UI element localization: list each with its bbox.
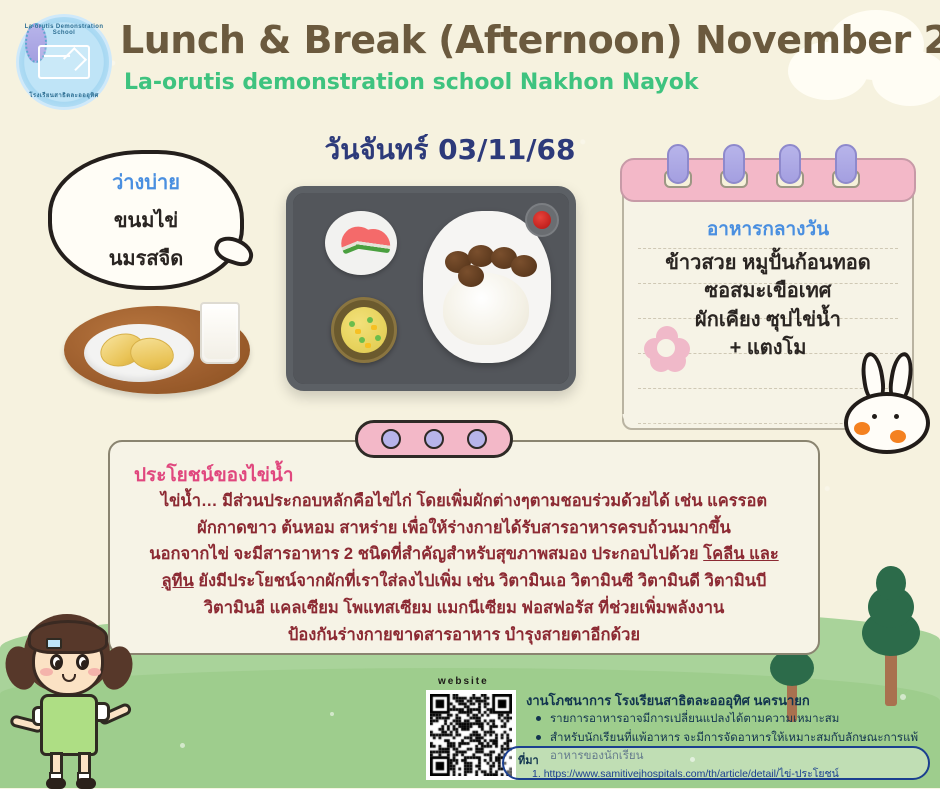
steamed-rice (443, 273, 529, 345)
benefits-line-with-highlight: ลูทีน ยังมีประโยชน์จากผักที่เราใส่ลงไปเพ… (124, 568, 804, 595)
footer-bar: website งานโภชนาการ โรงเรียนสาธิตละอออุท… (418, 676, 934, 784)
benefits-body: ไข่น้ำ… มีส่วนประกอบหลักคือไข่ไก่ โดยเพิ… (124, 488, 804, 648)
tab-dot-icon (381, 429, 401, 449)
snack-item-1: ขนมไข่ (114, 204, 178, 236)
bubble-tail (211, 232, 257, 269)
tab-dot-icon (424, 429, 444, 449)
school-building-icon (38, 45, 90, 79)
source-url-link[interactable]: https://www.samitivejhospitals.com/th/ar… (544, 768, 839, 780)
benefits-highlight-lutein: ลูทีน (162, 572, 194, 590)
school-logo: La-orutis Demonstration School โรงเรียนส… (16, 14, 112, 110)
footer-org-name: งานโภชนาการ โรงเรียนสาธิตละอออุทิศ นครนา… (526, 690, 810, 711)
milk-glass-icon (200, 302, 240, 364)
snack-heading: ว่างบ่าย (112, 166, 180, 198)
uniform-badge-icon (46, 638, 62, 649)
soup-bowl (331, 297, 397, 363)
benefits-highlight-choline: โคลีน และ (703, 545, 778, 563)
logo-text-top: La-orutis Demonstration School (19, 24, 109, 36)
page-subtitle: La-orutis demonstration school Nakhon Na… (124, 70, 698, 95)
bunny-icon (838, 352, 934, 460)
notepad-binder-rings (622, 144, 914, 204)
benefits-line: นอกจากไข่ จะมีสารอาหาร 2 ชนิดที่สำคัญสำห… (149, 545, 698, 563)
benefits-line: ป้องกันร่างกายขาดสารอาหาร บำรุงสายตาอีกด… (124, 622, 804, 649)
lunch-menu-content: อาหารกลางวัน ข้าวสวย หมูปั้นก้อนทอด ซอสม… (634, 214, 902, 363)
website-label: website (438, 676, 489, 687)
poster-canvas: La-orutis Demonstration School โรงเรียนส… (0, 0, 940, 788)
cartoon-schoolgirl-icon (6, 612, 138, 788)
snack-item-2: นมรสจืด (109, 242, 184, 274)
benefits-tab-decor (355, 420, 513, 458)
afternoon-snack-bubble: ว่างบ่าย ขนมไข่ นมรสจืด (48, 150, 244, 290)
milk-fill (204, 309, 236, 359)
tab-dot-icon (467, 429, 487, 449)
benefits-panel: ประโยชน์ของไข่น้ำ ไข่น้ำ… มีส่วนประกอบหล… (108, 440, 820, 655)
lunch-menu-item: ผักเคียง ซุปไข่น้ำ (634, 306, 902, 334)
lunch-tray-photo (286, 186, 576, 391)
benefits-title: ประโยชน์ของไข่น้ำ (134, 460, 294, 490)
source-url-row: 1. https://www.samitivejhospitals.com/th… (532, 765, 839, 782)
benefits-line: ไข่น้ำ… มีส่วนประกอบหลักคือไข่ไก่ โดยเพิ… (124, 488, 804, 515)
benefits-line: วิตามินอี แคลเซียม โพแทสเซียม แมกนีเซียม… (124, 595, 804, 622)
source-box: ที่มา 1. https://www.samitivejhospitals.… (502, 746, 930, 780)
lunch-menu-item: ข้าวสวย หมูปั้นก้อนทอด (634, 249, 902, 277)
ketchup-cup (525, 203, 559, 237)
lunch-menu-title: อาหารกลางวัน (634, 214, 902, 244)
date-label: วันจันทร์ 03/11/68 (300, 128, 600, 172)
source-number: 1. (532, 768, 541, 780)
benefits-line: ผักกาดขาว ต้นหอม สาหร่าย เพื่อให้ร่างกาย… (124, 515, 804, 542)
grass-speck (330, 712, 334, 716)
pork-ball-icon (458, 265, 484, 287)
lunch-menu-item: ซอสมะเขือเทศ (634, 277, 902, 305)
page-title: Lunch & Break (Afternoon) November 2025 (120, 18, 940, 62)
benefits-line: ยังมีประโยชน์จากผักที่เราใส่ลงไปเพิ่ม เช… (198, 572, 766, 590)
egg-soup (341, 307, 387, 353)
grass-speck (180, 743, 185, 748)
page-header: La-orutis Demonstration School โรงเรียนส… (0, 0, 940, 118)
footer-note: รายการอาหารอาจมีการเปลี่ยนแปลงได้ตามความ… (534, 710, 934, 729)
benefits-line-with-highlight: นอกจากไข่ จะมีสารอาหาร 2 ชนิดที่สำคัญสำห… (124, 541, 804, 568)
snack-photo (58, 288, 258, 398)
logo-text-bottom: โรงเรียนสาธิตละอออุทิศ (19, 90, 109, 100)
pork-ball-icon (511, 255, 537, 277)
